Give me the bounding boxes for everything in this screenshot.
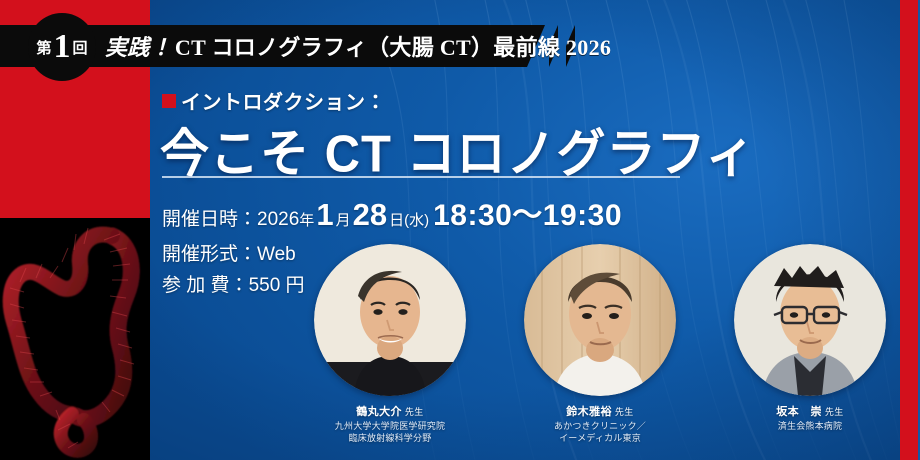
date-weekday: (水)	[404, 209, 429, 230]
speaker-honorific: 先生	[612, 407, 634, 417]
subtitle: イントロダクション：	[162, 86, 386, 115]
format-label: 開催形式：	[162, 239, 257, 266]
colon-image	[0, 218, 150, 460]
speaker-honorific: 先生	[822, 407, 844, 417]
speaker-name: 坂本 崇先生	[776, 403, 843, 419]
speaker-name-text: 鶴丸大介	[356, 406, 402, 418]
date-month-unit: 月	[336, 209, 351, 230]
speaker-list: 鶴丸大介先生 九州大学大学院医学研究院 臨床放射線科学分野	[300, 244, 900, 460]
avatar	[734, 244, 886, 396]
date-label: 開催日時：	[162, 204, 257, 231]
affiliation-line-2: イーメディカル東京	[554, 433, 646, 445]
subtitle-text: イントロダクション：	[181, 86, 386, 115]
episode-number: 1	[52, 30, 73, 64]
speaker-card: 坂本 崇先生 済生会熊本病院	[720, 244, 900, 460]
speaker-name: 鈴木雅裕先生	[566, 403, 633, 419]
speaker-affiliation: あかつきクリニック／ イーメディカル東京	[554, 421, 646, 445]
episode-prefix: 第	[36, 37, 51, 58]
speaker-affiliation: 九州大学大学院医学研究院 臨床放射線科学分野	[335, 421, 445, 445]
affiliation-line-2: 臨床放射線科学分野	[335, 433, 445, 445]
webinar-banner: 実践！ CT コロノグラフィ（大腸 CT）最前線 2026 第 1 回 イントロ…	[0, 0, 920, 460]
speaker-honorific: 先生	[402, 407, 424, 417]
episode-suffix: 回	[73, 37, 88, 58]
speaker-card: 鈴木雅裕先生 あかつきクリニック／ イーメディカル東京	[510, 244, 690, 460]
avatar	[314, 244, 466, 396]
episode-badge: 第 1 回	[28, 13, 96, 81]
date-year: 2026	[257, 209, 299, 231]
avatar	[524, 244, 676, 396]
affiliation-line-1: 九州大学大学院医学研究院	[335, 421, 445, 433]
speaker-name: 鶴丸大介先生	[356, 403, 423, 419]
series-title-emphasis: 実践！	[105, 30, 175, 62]
red-square-bullet-icon	[162, 94, 176, 108]
speaker-name-text: 坂本 崇	[776, 406, 822, 418]
affiliation-line-1: あかつきクリニック／	[554, 421, 646, 433]
date-month: 1	[314, 199, 335, 230]
fee-label: 参 加 費：	[162, 270, 249, 297]
speaker-card: 鶴丸大介先生 九州大学大学院医学研究院 臨床放射線科学分野	[300, 244, 480, 460]
fee-value: 550 円	[249, 270, 305, 297]
date-day-unit: 日	[389, 209, 404, 230]
speaker-affiliation: 済生会熊本病院	[778, 421, 842, 433]
title-underline	[162, 176, 680, 178]
speaker-name-text: 鈴木雅裕	[566, 406, 612, 418]
event-datetime-row: 開催日時： 2026 年 1 月 28 日 (水) 18:30〜19:30	[162, 190, 622, 234]
right-red-stripe	[900, 0, 918, 460]
series-title-main: CT コロノグラフィ（大腸 CT）最前線 2026	[175, 30, 611, 62]
date-year-unit: 年	[299, 209, 314, 230]
affiliation-line-1: 済生会熊本病院	[778, 421, 842, 433]
event-time: 18:30〜19:30	[429, 190, 622, 234]
series-title-text: 実践！ CT コロノグラフィ（大腸 CT）最前線 2026	[105, 25, 611, 67]
date-day: 28	[351, 199, 389, 230]
format-value: Web	[257, 244, 296, 266]
